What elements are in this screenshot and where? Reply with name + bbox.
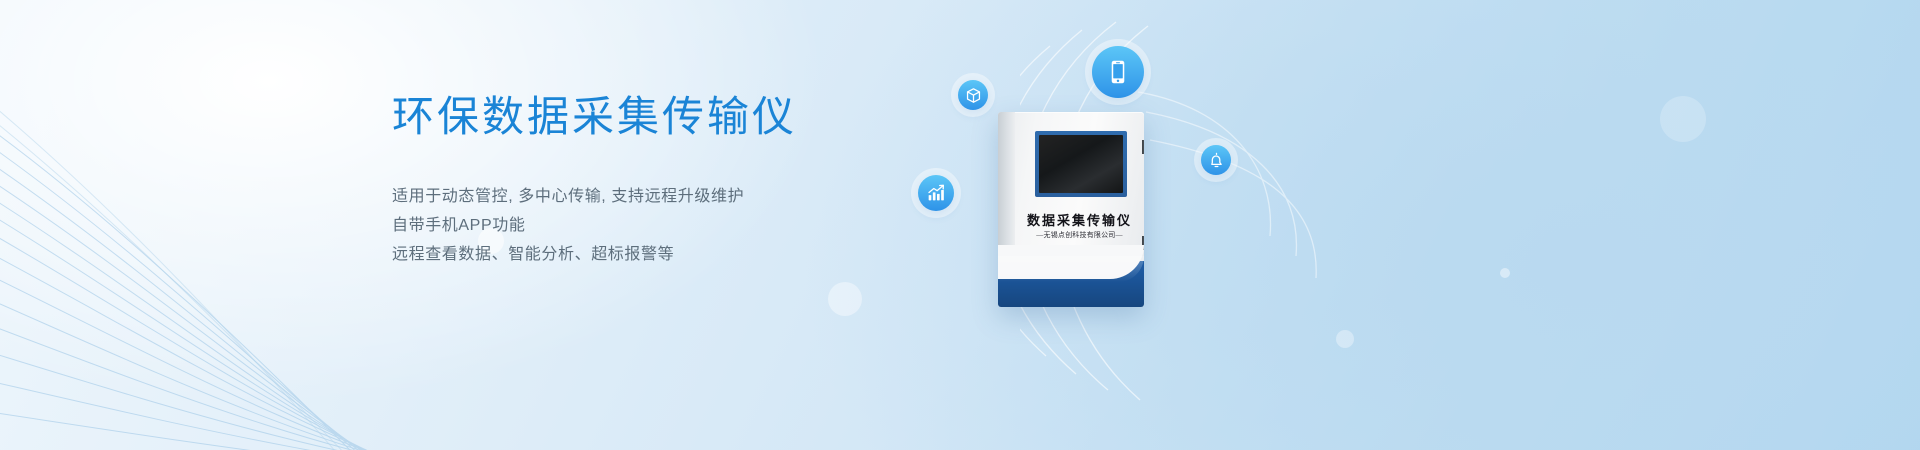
device-screen-bezel xyxy=(1035,131,1127,197)
device-product-name: 数据采集传输仪 xyxy=(1015,210,1144,229)
banner-title: 环保数据采集传输仪 xyxy=(392,92,952,142)
bokeh-dot xyxy=(828,282,862,316)
bar-chart-growth-icon xyxy=(918,175,954,211)
device-side-port xyxy=(1142,140,1144,154)
device-screen xyxy=(1039,135,1123,193)
device-company-name: —无锡点创科技有限公司— xyxy=(1015,230,1144,240)
device-base-band xyxy=(998,261,1144,307)
banner-subtitle-list: 适用于动态管控, 多中心传输, 支持远程升级维护 自带手机APP功能 远程查看数… xyxy=(392,182,952,269)
data-acquisition-device: 数据采集传输仪 —无锡点创科技有限公司— xyxy=(998,112,1144,307)
hero-banner: 环保数据采集传输仪 适用于动态管控, 多中心传输, 支持远程升级维护 自带手机A… xyxy=(0,0,1920,450)
mobile-phone-icon xyxy=(1092,46,1144,98)
banner-copy: 环保数据采集传输仪 适用于动态管控, 多中心传输, 支持远程升级维护 自带手机A… xyxy=(392,92,952,269)
product-illustration: 数据采集传输仪 —无锡点创科技有限公司— xyxy=(1020,0,1780,450)
banner-subtitle-line-3: 远程查看数据、智能分析、超标报警等 xyxy=(392,240,952,269)
banner-subtitle-line-1: 适用于动态管控, 多中心传输, 支持远程升级维护 xyxy=(392,182,952,211)
banner-subtitle-line-2: 自带手机APP功能 xyxy=(392,211,952,240)
alarm-bell-icon xyxy=(1201,145,1231,175)
package-box-icon xyxy=(958,80,988,110)
